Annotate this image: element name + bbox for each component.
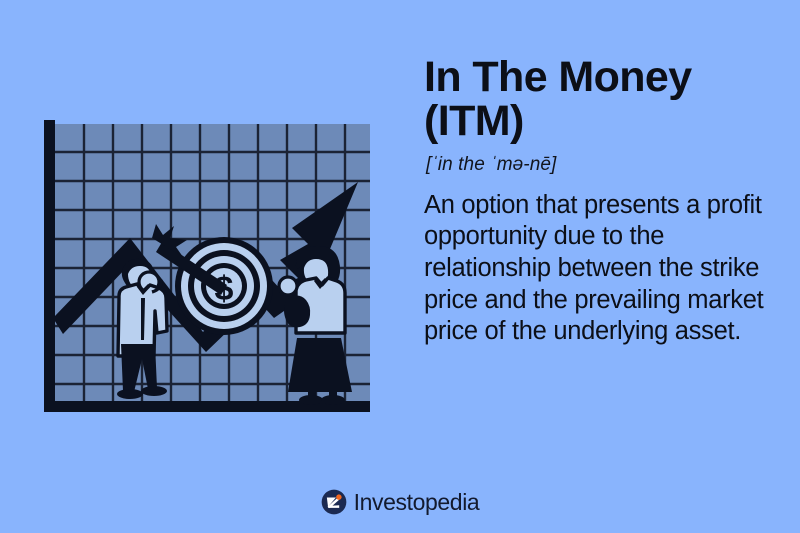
- chart-axis-y: [44, 120, 55, 412]
- investopedia-wordmark: Investopedia: [354, 491, 480, 514]
- definition-text: An option that presents a profit opportu…: [424, 190, 776, 348]
- text-column: In The Money (ITM) [ˈin the ˈmə-nē] An o…: [424, 56, 776, 348]
- page-title: In The Money (ITM): [424, 56, 776, 144]
- chart-illustration-svg: $: [40, 120, 376, 420]
- illustration: $: [40, 120, 376, 420]
- infographic-card: $: [0, 0, 800, 533]
- pronunciation-text: [ˈin the ˈmə-nē]: [426, 154, 776, 176]
- investopedia-logo-icon: [321, 489, 347, 515]
- brand-footer: Investopedia: [0, 489, 800, 515]
